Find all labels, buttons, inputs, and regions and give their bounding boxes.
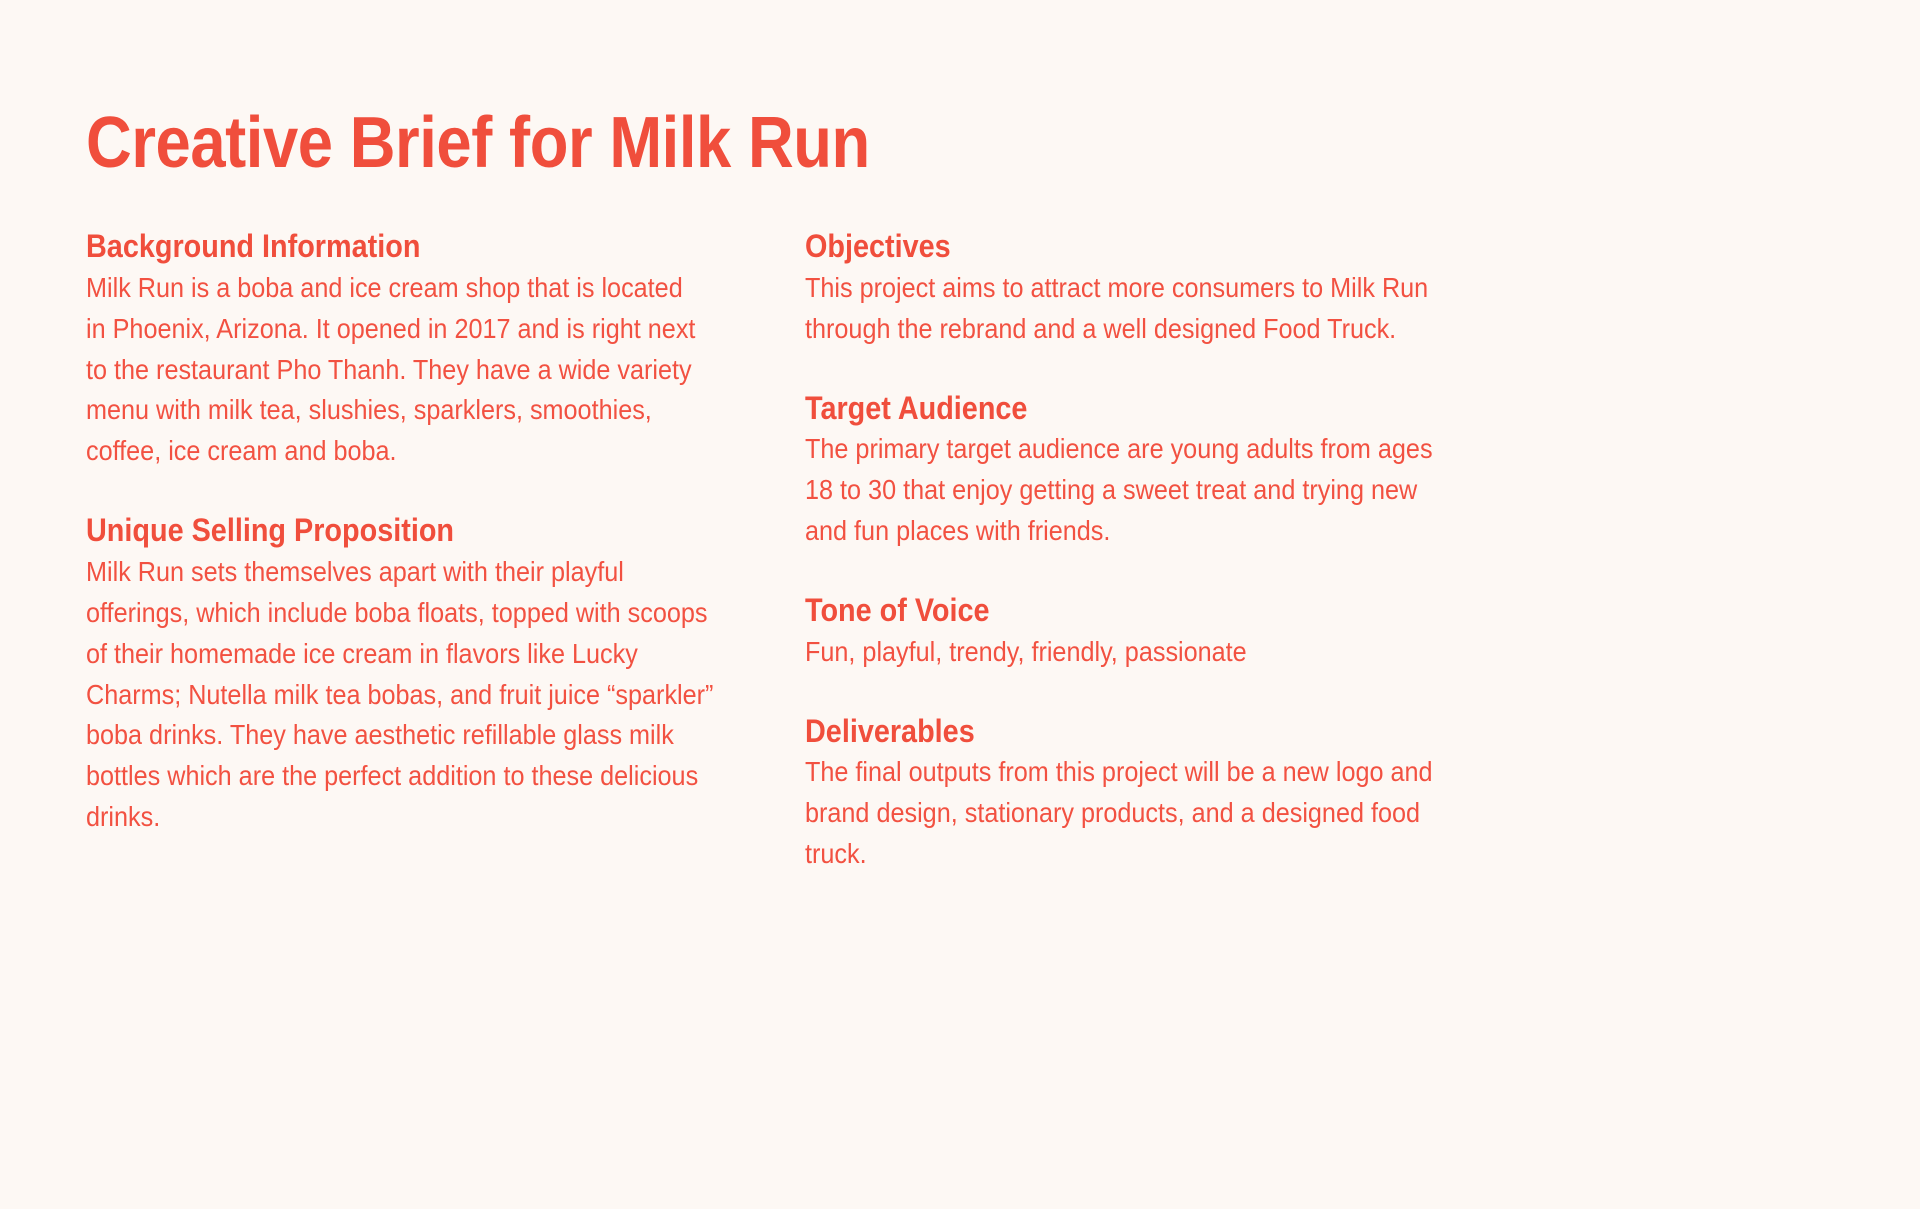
body-line: drinks. [86, 797, 784, 838]
section-background-information: Background Information Milk Run is a bob… [86, 228, 785, 472]
body-line: bottles which are the perfect addition t… [86, 756, 784, 797]
section-body: This project aims to attract more consum… [805, 268, 1764, 350]
body-line: to the restaurant Pho Thanh. They have a… [86, 350, 784, 391]
body-line: Charms; Nutella milk tea bobas, and frui… [86, 675, 784, 716]
section-heading: Target Audience [805, 390, 1669, 428]
section-body: The final outputs from this project will… [805, 752, 1764, 875]
body-line: brand design, stationary products, and a… [805, 793, 1764, 834]
body-line: of their homemade ice cream in flavors l… [86, 634, 784, 675]
section-heading: Tone of Voice [805, 592, 1669, 630]
body-line: This project aims to attract more consum… [805, 268, 1764, 309]
section-objectives: Objectives This project aims to attract … [805, 228, 1765, 350]
section-heading: Objectives [805, 228, 1669, 266]
body-line: offerings, which include boba floats, to… [86, 593, 784, 634]
body-line: menu with milk tea, slushies, sparklers,… [86, 390, 784, 431]
section-heading: Background Information [86, 228, 715, 266]
body-line: in Phoenix, Arizona. It opened in 2017 a… [86, 309, 784, 350]
body-line: The primary target audience are young ad… [805, 429, 1764, 470]
section-body: Milk Run is a boba and ice cream shop th… [86, 268, 784, 472]
section-body: Fun, playful, trendy, friendly, passiona… [805, 632, 1764, 673]
body-line: and fun places with friends. [805, 511, 1764, 552]
section-heading: Unique Selling Proposition [86, 512, 715, 550]
section-tone-of-voice: Tone of Voice Fun, playful, trendy, frie… [805, 592, 1765, 673]
section-body: The primary target audience are young ad… [805, 429, 1764, 552]
body-line: truck. [805, 834, 1764, 875]
section-target-audience: Target Audience The primary target audie… [805, 390, 1765, 552]
body-line: Milk Run is a boba and ice cream shop th… [86, 268, 784, 309]
body-line: coffee, ice cream and boba. [86, 431, 784, 472]
section-body: Milk Run sets themselves apart with thei… [86, 552, 784, 838]
brief-columns: Background Information Milk Run is a bob… [0, 228, 1920, 915]
section-heading: Deliverables [805, 713, 1669, 751]
body-line: Milk Run sets themselves apart with thei… [86, 552, 784, 593]
body-line: 18 to 30 that enjoy getting a sweet trea… [805, 470, 1764, 511]
section-unique-selling-proposition: Unique Selling Proposition Milk Run sets… [86, 512, 785, 838]
left-column: Background Information Milk Run is a bob… [0, 228, 805, 878]
right-column: Objectives This project aims to attract … [805, 228, 1805, 915]
page-title: Creative Brief for Milk Run [86, 106, 870, 182]
body-line: The final outputs from this project will… [805, 752, 1764, 793]
creative-brief-page: Creative Brief for Milk Run Background I… [0, 0, 1920, 1209]
section-deliverables: Deliverables The final outputs from this… [805, 713, 1765, 875]
body-line: boba drinks. They have aesthetic refilla… [86, 715, 784, 756]
body-line: through the rebrand and a well designed … [805, 309, 1764, 350]
body-line: Fun, playful, trendy, friendly, passiona… [805, 632, 1764, 673]
